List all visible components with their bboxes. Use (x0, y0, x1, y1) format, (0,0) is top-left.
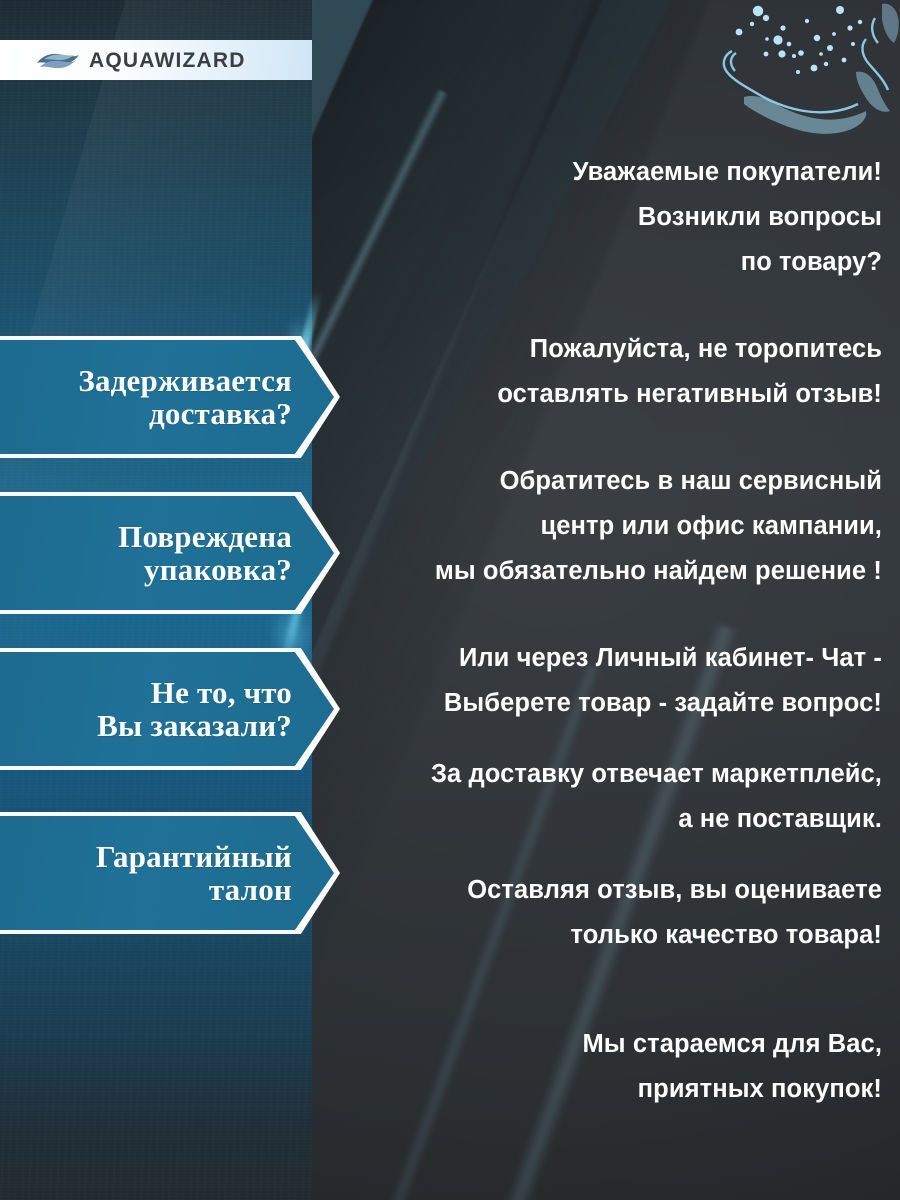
tab-wrong-item[interactable]: Не то, что Вы заказали? (0, 648, 340, 770)
tab-delivery-delayed[interactable]: Задерживается доставка? (0, 336, 340, 458)
promo-poster: AQUAWIZARD (0, 0, 900, 1200)
copy-block-chat: Или через Личный кабинет- Чат - Выберете… (330, 636, 882, 726)
logo-wordmark: AQUAWIZARD (89, 50, 246, 71)
tab-warranty-card[interactable]: Гарантийный талон (0, 812, 340, 934)
tab-label: Гарантийный талон (96, 840, 292, 907)
copy-block-service: Обратитесь в наш сервисный центр или офи… (330, 459, 882, 594)
copy-block-no-negative: Пожалуйста, не торопитесь оставлять нега… (330, 327, 882, 417)
copy-block-greeting: Уважаемые покупатели! Возникли вопросы п… (330, 150, 882, 285)
tab-label: Повреждена упаковка? (118, 520, 292, 587)
copy-block-quality: Оставляя отзыв, вы оцениваете только кач… (330, 868, 882, 958)
brand-logo-bar: AQUAWIZARD (0, 40, 312, 80)
copy-block-marketplace: За доставку отвечает маркетплейс, а не п… (330, 752, 882, 842)
copy-block-closing: Мы стараемся для Вас, приятных покупок! (330, 1022, 882, 1112)
tab-damaged-packaging[interactable]: Повреждена упаковка? (0, 492, 340, 614)
tab-label: Не то, что Вы заказали? (97, 676, 292, 743)
wave-icon (36, 49, 80, 71)
tab-label: Задерживается доставка? (78, 364, 292, 431)
message-copy-column: Уважаемые покупатели! Возникли вопросы п… (330, 150, 882, 1112)
water-splash-graphic (670, 0, 900, 144)
